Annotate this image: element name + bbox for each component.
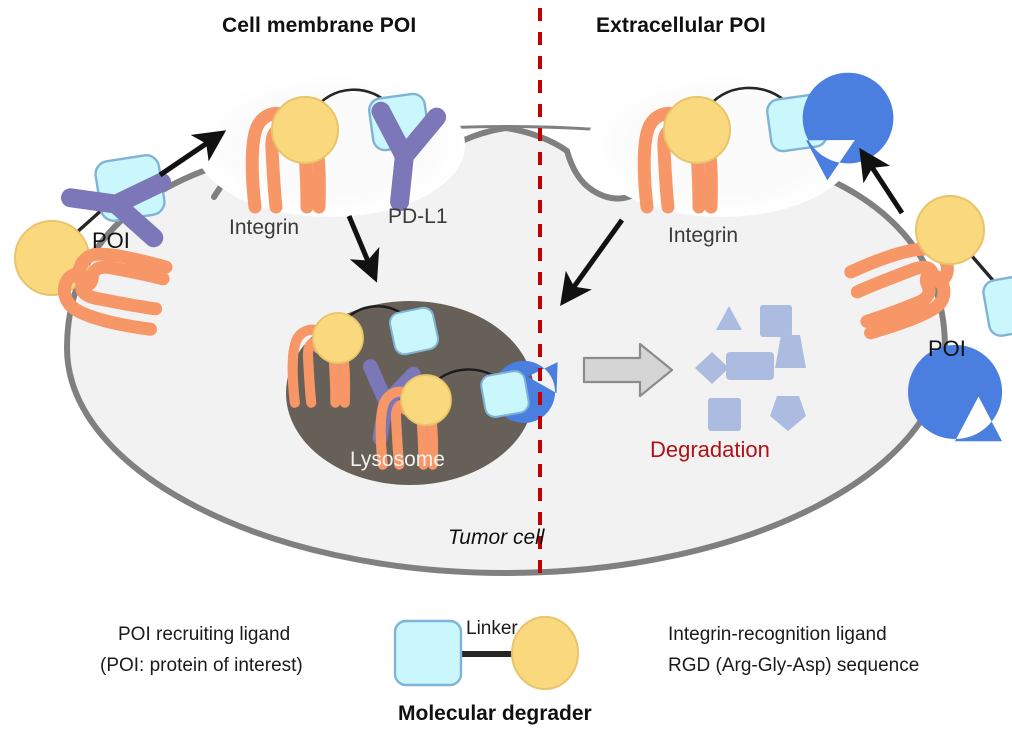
legend-recruiting-ligand-square <box>395 621 461 685</box>
title-extracellular-poi: Extracellular POI <box>596 14 766 38</box>
legend-linker-label: Linker <box>466 618 518 640</box>
label-degradation: Degradation <box>650 437 770 463</box>
figure-canvas: Cell membrane POI Extracellular POI Inte… <box>0 0 1012 751</box>
label-poi-left: POI <box>92 228 130 254</box>
label-tumor-cell: Tumor cell <box>448 526 544 550</box>
legend-left-line1: POI recruiting ligand <box>118 620 290 650</box>
legend-left-line2: (POI: protein of interest) <box>100 651 303 681</box>
label-integrin-left: Integrin <box>229 216 299 240</box>
label-integrin-right: Integrin <box>668 224 738 248</box>
label-lysosome: Lysosome <box>350 448 445 472</box>
legend-caption: Molecular degrader <box>398 702 592 726</box>
legend-rgd-ligand-circle <box>512 617 578 689</box>
legend-right-line2: RGD (Arg-Gly-Asp) sequence <box>668 651 919 681</box>
label-pd-l1: PD-L1 <box>388 205 448 229</box>
label-poi-right: POI <box>928 336 966 362</box>
legend-right-line1: Integrin-recognition ligand <box>668 620 887 650</box>
title-cell-membrane-poi: Cell membrane POI <box>222 14 416 38</box>
